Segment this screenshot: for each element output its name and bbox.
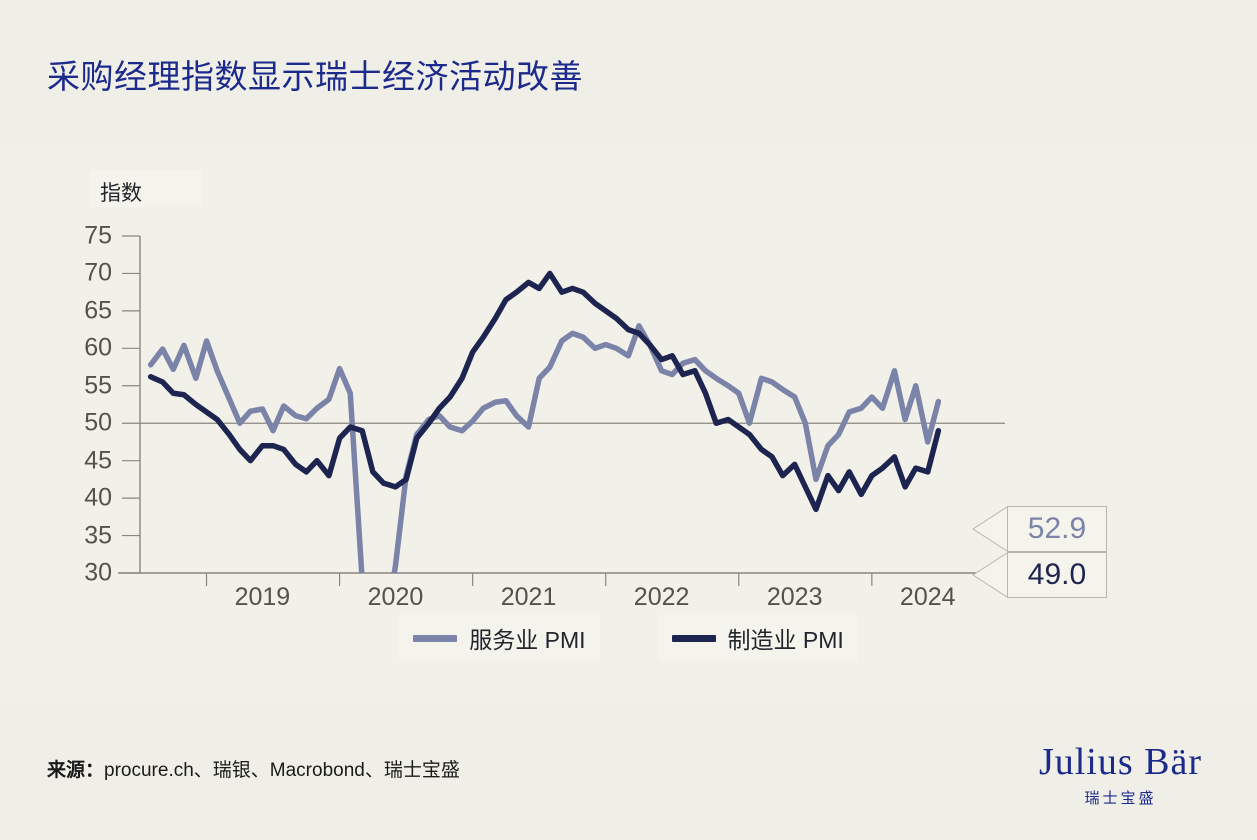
x-tick-label: 2024: [900, 583, 956, 612]
chart-legend: 服务业 PMI 制造业 PMI: [0, 615, 1257, 661]
x-tick-label: 2019: [235, 583, 291, 612]
logo-subtitle: 瑞士宝盛: [1039, 787, 1202, 808]
legend-item-services: 服务业 PMI: [399, 615, 599, 661]
legend-label-manufacturing: 制造业 PMI: [728, 621, 844, 655]
y-tick-label: 75: [60, 222, 112, 251]
y-tick-label: 55: [60, 371, 112, 400]
y-tick-label: 40: [60, 484, 112, 513]
y-tick-label: 65: [60, 296, 112, 325]
y-tick-label: 70: [60, 259, 112, 288]
x-tick-label: 2023: [767, 583, 823, 612]
callout-services-value: 52.9: [1007, 506, 1107, 552]
callout-arrow-services: [965, 506, 1007, 552]
julius-baer-logo: Julius Bär 瑞士宝盛: [1039, 743, 1202, 808]
footer: 来源：procure.ch、瑞银、Macrobond、瑞士宝盛 Julius B…: [0, 705, 1257, 840]
y-tick-label: 30: [60, 559, 112, 588]
x-tick-label: 2021: [501, 583, 557, 612]
source-label: 来源：: [47, 760, 104, 781]
title-bar: 采购经理指数显示瑞士经济活动改善: [0, 0, 1257, 145]
chart-panel: 指数 3035404550556065707520192020202120222…: [0, 145, 1257, 705]
y-tick-label: 35: [60, 521, 112, 550]
legend-item-manufacturing: 制造业 PMI: [658, 615, 858, 661]
source-note: 来源：procure.ch、瑞银、Macrobond、瑞士宝盛: [47, 755, 460, 782]
legend-swatch-services: [413, 635, 457, 642]
y-tick-label: 50: [60, 409, 112, 438]
x-tick-label: 2022: [634, 583, 690, 612]
y-tick-label: 60: [60, 334, 112, 363]
page-title: 采购经理指数显示瑞士经济活动改善: [47, 50, 583, 98]
logo-wordmark: Julius Bär: [1039, 743, 1202, 783]
legend-swatch-manufacturing: [672, 635, 716, 642]
callout-manufacturing-value: 49.0: [1007, 552, 1107, 598]
x-tick-label: 2020: [368, 583, 424, 612]
callout-arrow-manufacturing: [965, 552, 1007, 598]
source-value: procure.ch、瑞银、Macrobond、瑞士宝盛: [104, 760, 460, 781]
y-tick-label: 45: [60, 446, 112, 475]
legend-label-services: 服务业 PMI: [469, 621, 585, 655]
